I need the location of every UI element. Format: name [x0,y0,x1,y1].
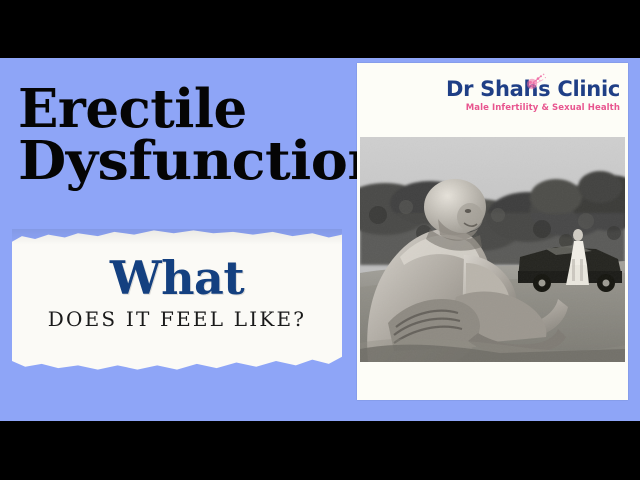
headline-block: Erectile Dysfunction [18,84,358,188]
thumbnail-canvas: Erectile Dysfunction What DOES IT FEEL L… [0,58,640,421]
photo-card: Dr Shahs Clinic Male Infertility & Sexua… [357,63,628,400]
headline-line-2: Dysfunction [18,136,375,188]
clinic-tagline: Male Infertility & Sexual Health [357,104,620,113]
highlight-word: What [12,255,342,301]
clinic-logo: Dr Shahs Clinic Male Infertility & Sexua… [357,79,620,131]
headline-line-1: Erectile [18,84,358,136]
photo-image [360,137,625,362]
letterbox-bar-top [0,0,640,58]
clinic-name: Dr Shahs Clinic [357,79,620,100]
sperm-dandelion-mark-icon [522,71,548,95]
subtitle-text: DOES IT FEEL LIKE? [12,309,342,329]
video-thumbnail: Erectile Dysfunction What DOES IT FEEL L… [0,0,640,480]
torn-paper-text: What DOES IT FEEL LIKE? [12,255,342,329]
torn-paper-band: What DOES IT FEEL LIKE? [12,229,342,371]
letterbox-bar-bottom [0,421,640,480]
